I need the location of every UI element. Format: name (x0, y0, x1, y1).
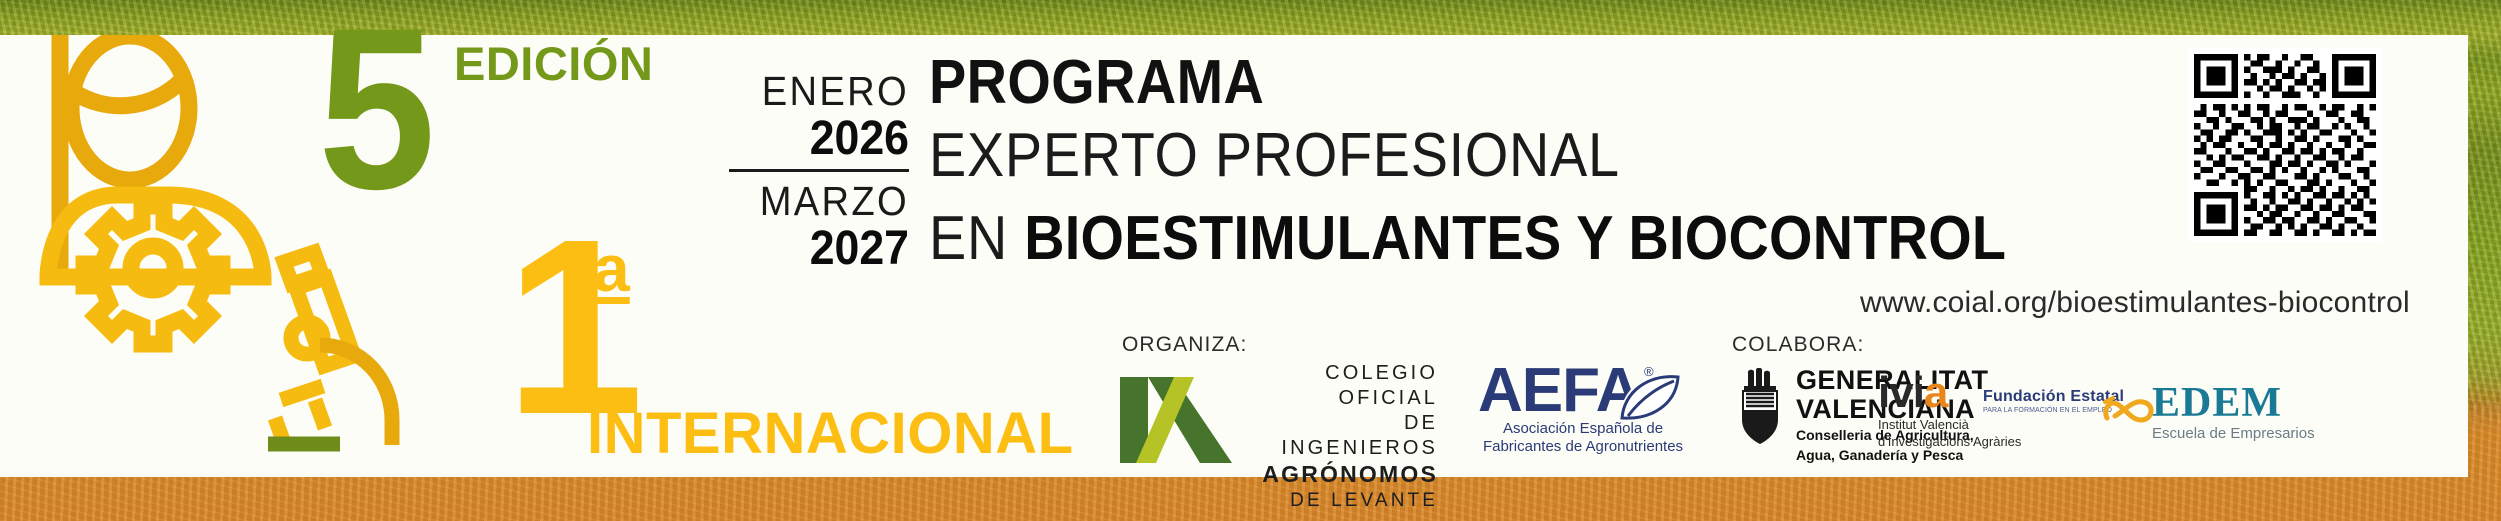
logo-edem[interactable]: EDEM Escuela de Empresarios (2152, 382, 2332, 442)
international-ordinal: a (593, 230, 630, 306)
title-en-prefix: EN (929, 204, 1024, 273)
coial-line2: DE INGENIEROS (1242, 411, 1438, 461)
program-titles: PROGRAMA EXPERTO PROFESIONAL EN BIOESTIM… (929, 52, 2126, 296)
end-month: MARZO (742, 178, 909, 224)
generalitat-shield-icon (1734, 368, 1786, 446)
date-range: ENERO 2026 MARZO 2027 (729, 68, 909, 274)
logo-aefa[interactable]: AEFA ® Asociación Española de Fabricante… (1478, 362, 1688, 462)
start-year: 2026 (742, 114, 909, 164)
title-subject: BIOESTIMULANTES Y BIOCONTROL (1024, 204, 2006, 273)
colabora-label: COLABORA: (1732, 333, 1864, 357)
website-url[interactable]: www.coial.org/bioestimulantes-biocontrol (1860, 286, 2410, 320)
edition-number: 5 (318, 14, 426, 204)
edem-wordmark: EDEM (2152, 382, 2332, 424)
date-divider (729, 169, 909, 172)
coial-mark-icon (1120, 363, 1232, 463)
coial-line3: AGRÓNOMOS (1242, 461, 1438, 488)
logo-fundacion-estatal[interactable]: Fundación Estatal PARA LA FORMACIÓN EN E… (1983, 388, 2153, 448)
event-banner: 5 EDICIÓN 1 a INTERNACIONAL ENERO 2026 M… (0, 0, 2501, 521)
start-month: ENERO (742, 68, 909, 114)
ivia-word-main: ivi (1878, 368, 1924, 417)
title-programa: PROGRAMA (929, 52, 2006, 114)
international-label: INTERNACIONAL (587, 400, 1074, 467)
fundacion-infinity-icon (2101, 392, 2159, 428)
aefa-sub-line2: Fabricantes de Agronutrientes (1478, 438, 1688, 456)
title-experto-profesional: EXPERTO PROFESIONAL (929, 114, 2006, 198)
microscope-icon (268, 252, 392, 446)
coial-wordmark: COLEGIO OFICIAL DE INGENIEROS AGRÓNOMOS … (1242, 361, 1438, 513)
aefa-registered-mark: ® (1644, 364, 1654, 379)
ivia-word-accent: a (1924, 368, 1947, 417)
logo-coial[interactable]: COLEGIO OFICIAL DE INGENIEROS AGRÓNOMOS … (1120, 363, 1440, 463)
end-year: 2027 (742, 224, 909, 274)
coial-line4: DE LEVANTE (1242, 488, 1438, 513)
aefa-sub-line1: Asociación Española de (1478, 420, 1688, 438)
edem-subtitle: Escuela de Empresarios (2152, 425, 2332, 443)
organiza-label: ORGANIZA: (1122, 333, 1247, 357)
qr-code-svg (2194, 54, 2376, 236)
title-subject-line: EN BIOESTIMULANTES Y BIOCONTROL (929, 198, 2006, 296)
coial-line1: COLEGIO OFICIAL (1242, 361, 1438, 411)
qr-code[interactable] (2188, 48, 2382, 242)
aefa-subtitle: Asociación Española de Fabricantes de Ag… (1478, 420, 1688, 456)
edition-label: EDICIÓN (454, 36, 653, 91)
